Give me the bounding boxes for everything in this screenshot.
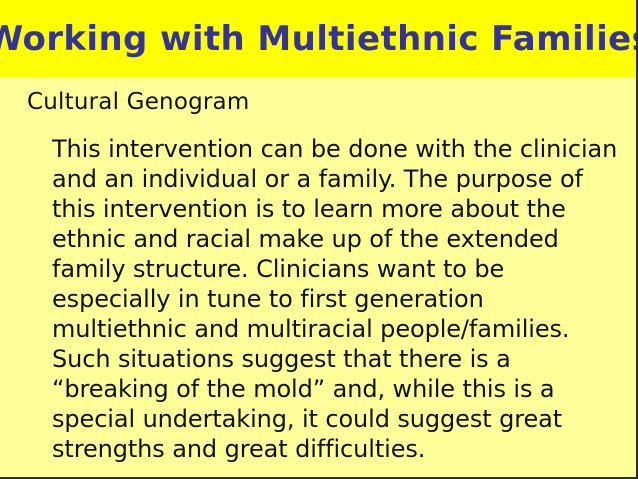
page-title: Working with Multiethnic Families xyxy=(0,22,638,56)
body-line: Such situations suggest that there is a xyxy=(52,344,612,374)
body-line: and an individual or a family. The purpo… xyxy=(52,164,612,194)
body-line: especially in tune to first generation xyxy=(52,284,612,314)
body-line: multiethnic and multiracial people/famil… xyxy=(52,314,612,344)
body-line: special undertaking, it could suggest gr… xyxy=(52,404,612,434)
slide-title-band: Working with Multiethnic Families xyxy=(0,0,638,77)
slide-canvas: Working with Multiethnic Families Cultur… xyxy=(0,0,638,479)
body-paragraph: This intervention can be done with the c… xyxy=(52,134,612,464)
body-line: “breaking of the mold” and, while this i… xyxy=(52,374,612,404)
body-line: strengths and great difficulties. xyxy=(52,434,612,464)
body-line: ethnic and racial make up of the extende… xyxy=(52,224,612,254)
body-line: This intervention can be done with the c… xyxy=(52,134,612,164)
section-heading: Cultural Genogram xyxy=(27,90,249,115)
body-line: this intervention is to learn more about… xyxy=(52,194,612,224)
body-line: family structure. Clinicians want to be xyxy=(52,254,612,284)
slide-body-area: Cultural Genogram This intervention can … xyxy=(0,77,638,479)
